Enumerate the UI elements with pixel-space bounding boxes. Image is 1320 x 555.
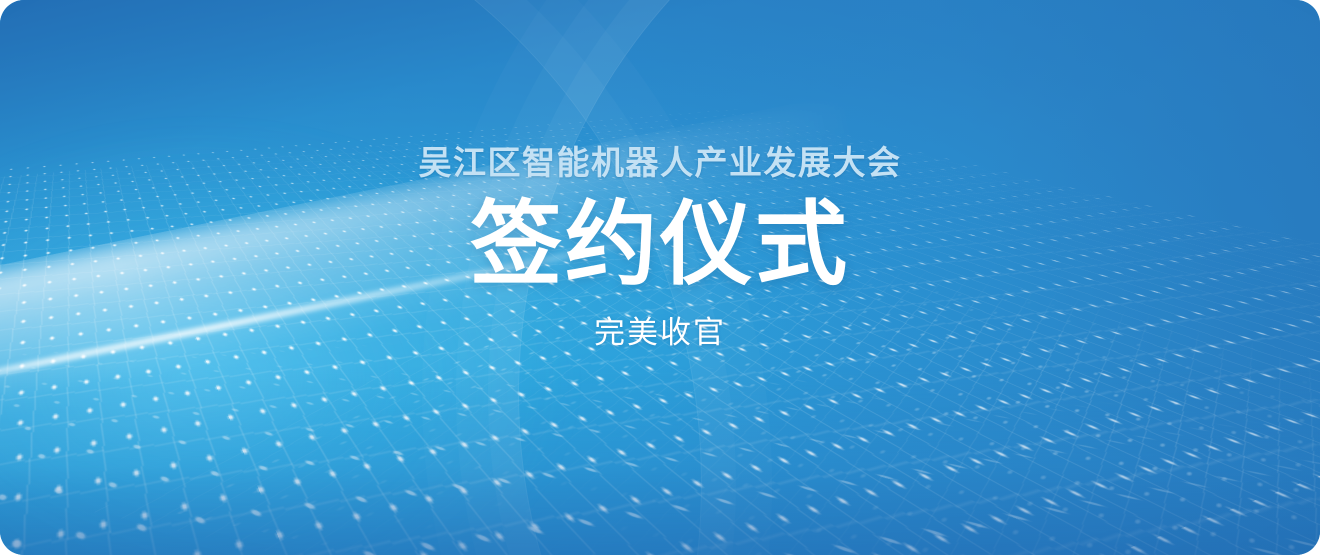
event-subtitle: 吴江区智能机器人产业发展大会 <box>419 146 902 179</box>
page-title: 签约仪式 <box>470 199 850 291</box>
event-tagline: 完美收官 <box>594 317 726 348</box>
event-banner: 吴江区智能机器人产业发展大会 签约仪式 完美收官 <box>0 0 1320 555</box>
banner-content: 吴江区智能机器人产业发展大会 签约仪式 完美收官 <box>0 0 1320 555</box>
